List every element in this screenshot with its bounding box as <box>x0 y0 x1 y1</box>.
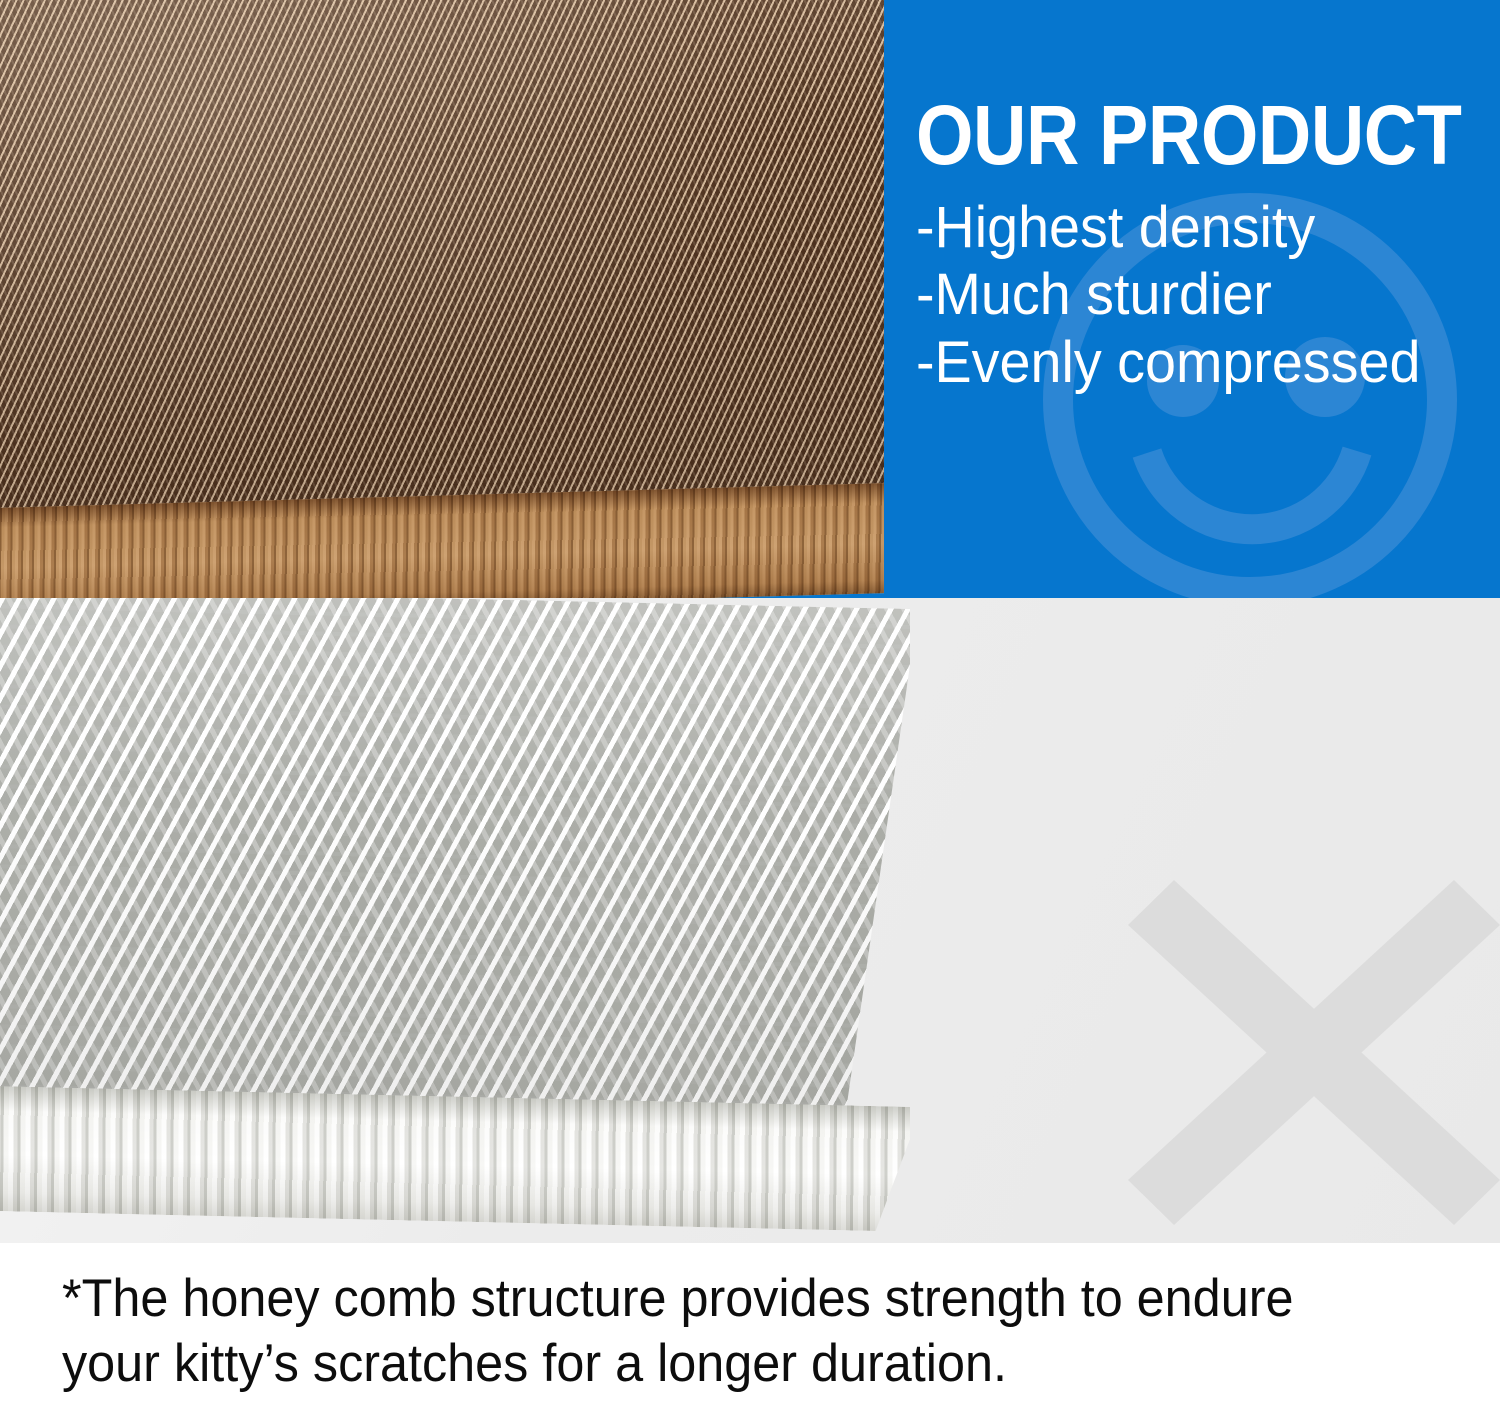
our-product-heading: OUR PRODUCT <box>916 98 1418 174</box>
others-section: OTHERS -Large grooves -Light weight -Low… <box>0 598 1500 1243</box>
our-product-bullet-1: -Highest density <box>916 194 1463 262</box>
white-honeycomb-pad-image <box>0 598 910 1243</box>
comparison-infographic: OUR PRODUCT -Highest density -Much sturd… <box>0 0 1500 1421</box>
our-product-section: OUR PRODUCT -Highest density -Much sturd… <box>0 0 1500 598</box>
our-product-bullet-3: -Evenly compressed <box>916 329 1463 397</box>
brown-pad-top-face <box>0 0 884 524</box>
our-product-bullet-2: -Much sturdier <box>916 261 1463 329</box>
our-product-bullet-list: -Highest density -Much sturdier -Evenly … <box>916 194 1486 398</box>
brown-honeycomb-pad-image <box>0 0 884 598</box>
footnote-text: *The honey comb structure provides stren… <box>62 1267 1392 1396</box>
white-pad-cut-edge <box>0 1086 910 1232</box>
footnote-area: *The honey comb structure provides stren… <box>0 1243 1500 1421</box>
our-product-text-panel: OUR PRODUCT -Highest density -Much sturd… <box>916 98 1486 397</box>
white-pad-top-face <box>0 598 910 1129</box>
x-cross-icon <box>1128 880 1500 1225</box>
